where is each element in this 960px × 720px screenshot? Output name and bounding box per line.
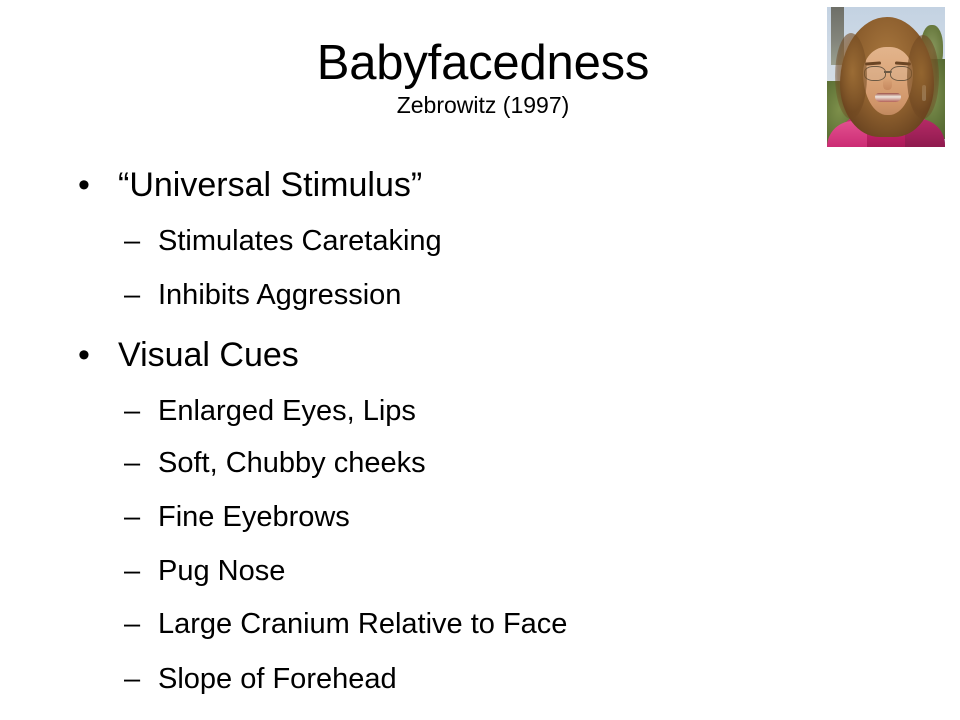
photo-hair-left-curls [835, 33, 867, 119]
list-item: – Inhibits Aggression [0, 278, 900, 336]
dash-marker-icon: – [124, 227, 158, 256]
list-item-label: Visual Cues [118, 336, 299, 374]
dash-marker-icon: – [124, 281, 158, 310]
list-item-label: Large Cranium Relative to Face [158, 607, 567, 641]
dash-marker-icon: – [124, 610, 158, 639]
slide-canvas: Babyfacedness Zebrowitz (1997) • “Univer… [0, 0, 960, 720]
dash-marker-icon: – [124, 665, 158, 694]
list-item: – Pug Nose [0, 554, 900, 607]
page-subtitle: Zebrowitz (1997) [0, 91, 960, 119]
portrait-photo [827, 7, 945, 147]
list-item: – Soft, Chubby cheeks [0, 446, 900, 500]
bullet-list: • “Universal Stimulus” – Stimulates Care… [0, 166, 900, 716]
photo-nose [883, 78, 892, 90]
list-item: • Visual Cues [0, 336, 900, 394]
page-title: Babyfacedness [0, 36, 960, 90]
list-item-label: Stimulates Caretaking [158, 224, 442, 258]
list-item: – Slope of Forehead [0, 662, 900, 716]
list-item-label: Inhibits Aggression [158, 278, 401, 312]
list-item-label: Fine Eyebrows [158, 500, 350, 534]
dash-marker-icon: – [124, 557, 158, 586]
list-item: – Large Cranium Relative to Face [0, 607, 900, 662]
list-item-label: Pug Nose [158, 554, 285, 588]
bullet-marker-icon: • [78, 168, 118, 202]
list-item: – Stimulates Caretaking [0, 224, 900, 278]
list-item-label: Soft, Chubby cheeks [158, 446, 426, 480]
photo-hair-right-curls [907, 35, 939, 119]
list-item: – Fine Eyebrows [0, 500, 900, 554]
list-item-label: Enlarged Eyes, Lips [158, 394, 416, 428]
list-item-label: Slope of Forehead [158, 662, 397, 696]
photo-mouth [875, 93, 901, 102]
photo-lens-left [864, 66, 886, 81]
dash-marker-icon: – [124, 397, 158, 426]
list-item: – Enlarged Eyes, Lips [0, 394, 900, 446]
dash-marker-icon: – [124, 449, 158, 478]
list-item: • “Universal Stimulus” [0, 166, 900, 224]
list-item-label: “Universal Stimulus” [118, 166, 422, 204]
bullet-marker-icon: • [78, 338, 118, 372]
dash-marker-icon: – [124, 503, 158, 532]
title-block: Babyfacedness Zebrowitz (1997) [0, 36, 960, 119]
